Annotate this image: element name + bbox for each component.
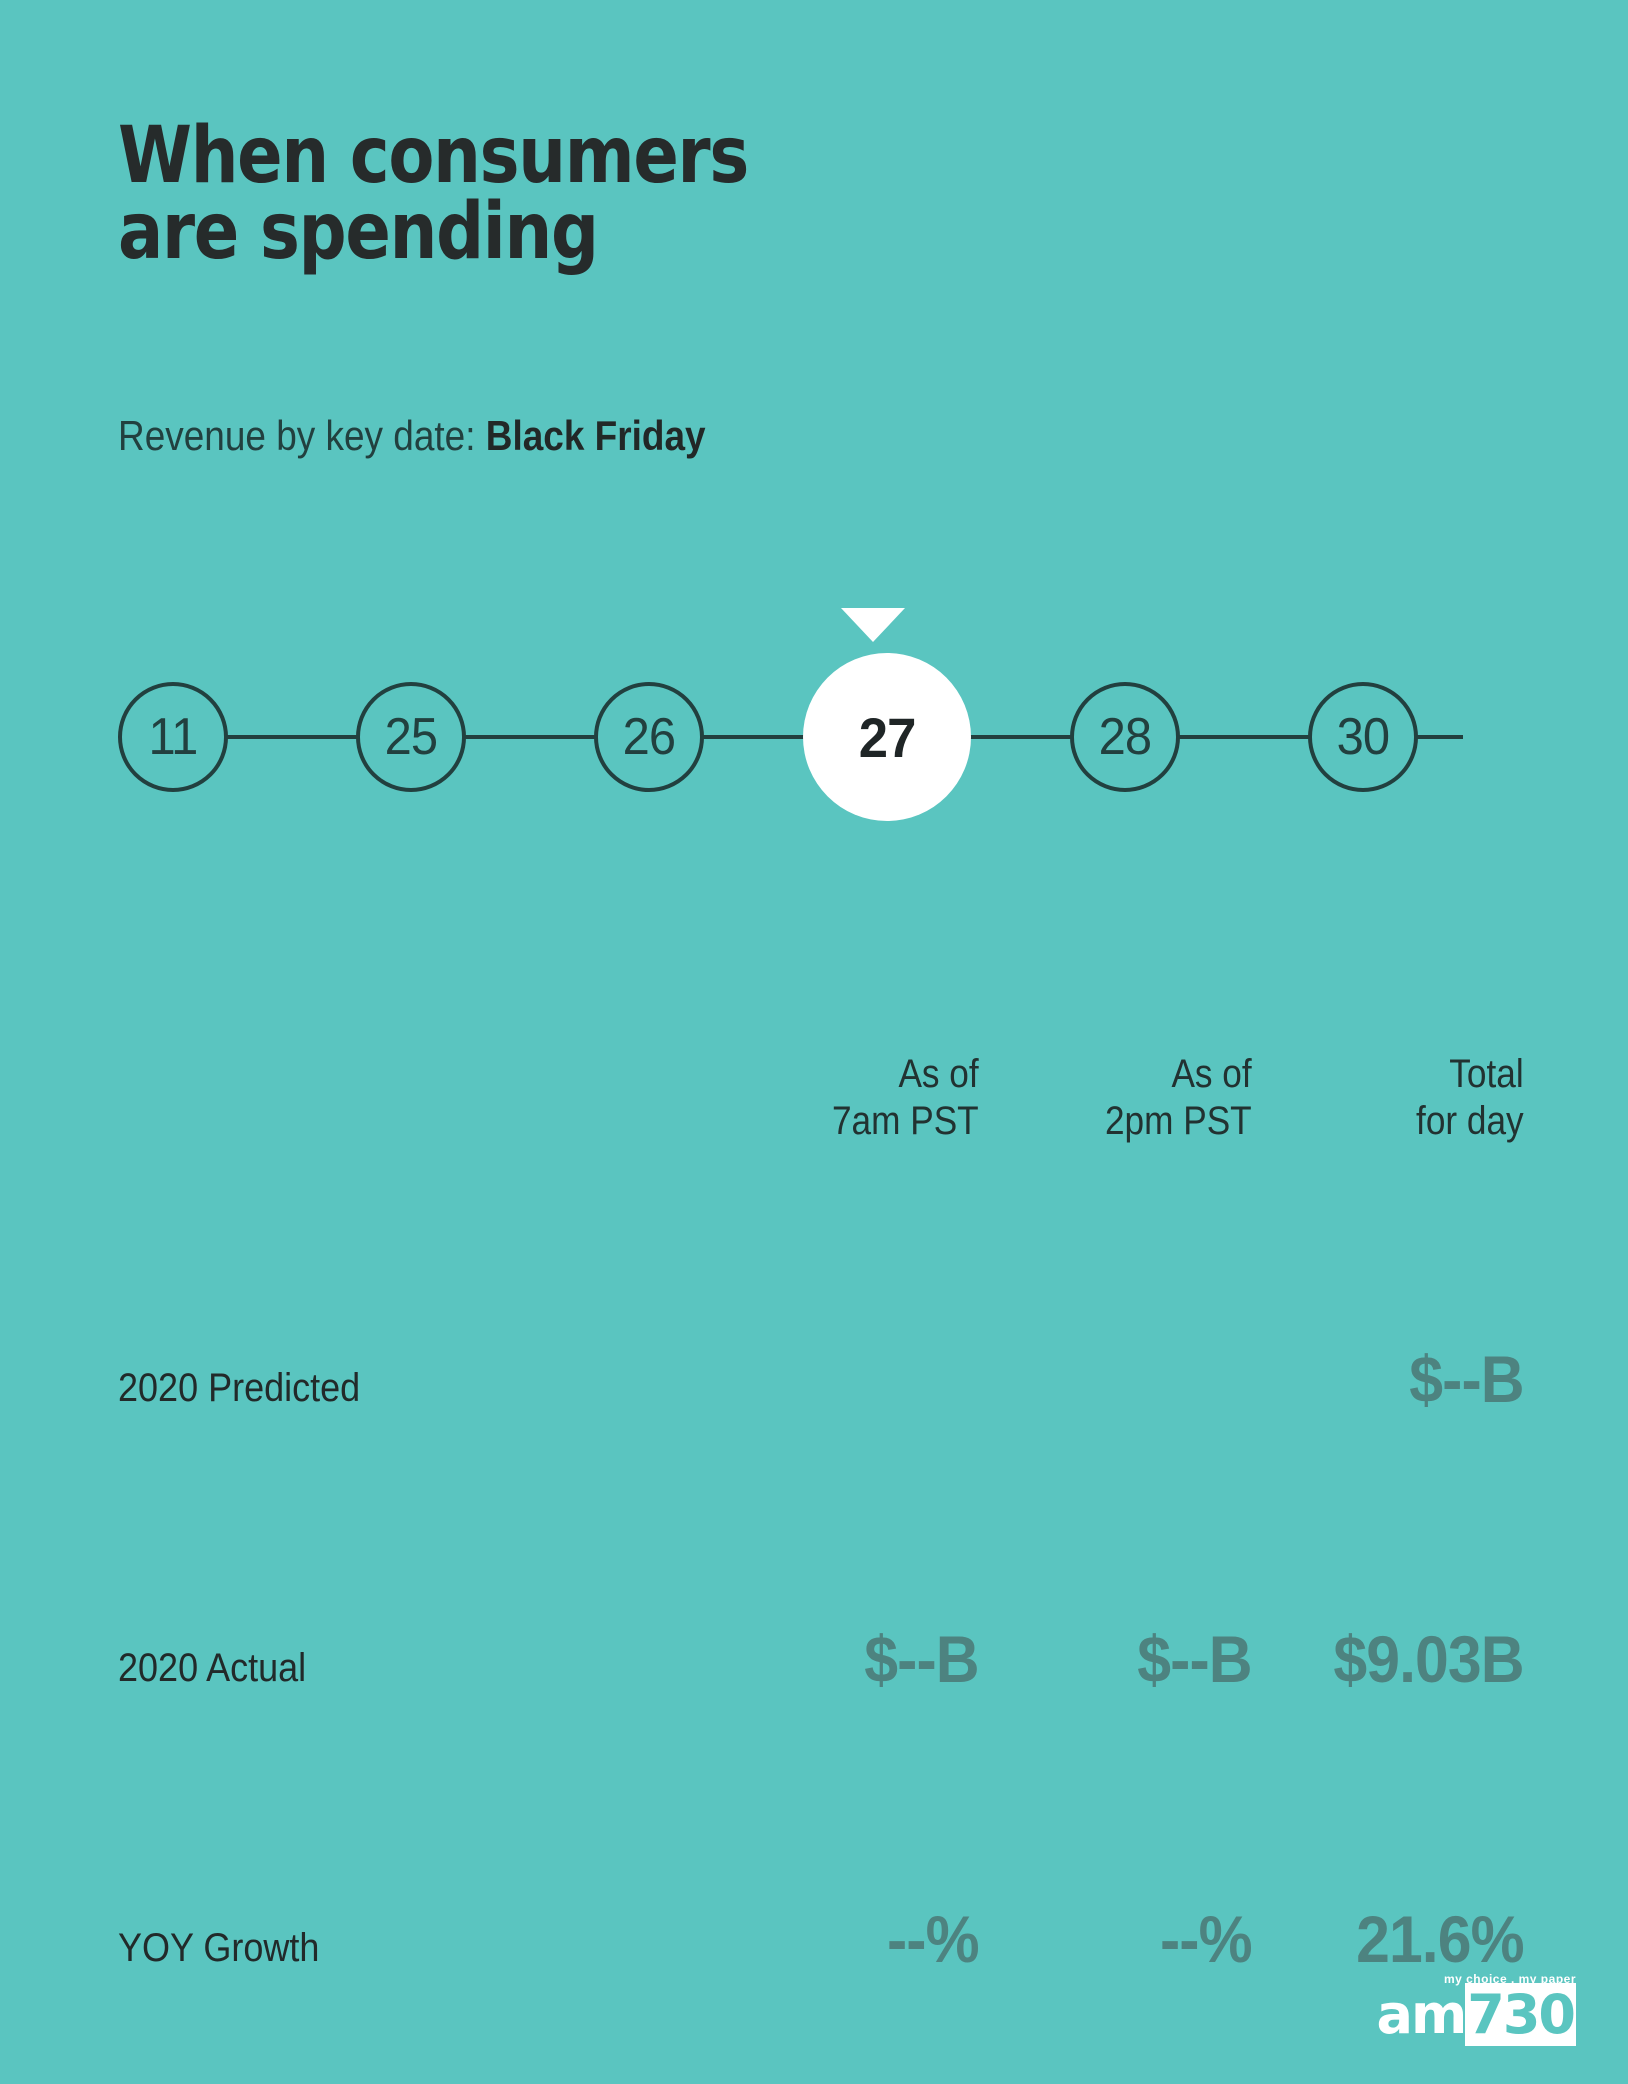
- table-header-row: As of 7am PST As of 2pm PST Total for da…: [118, 960, 1524, 1145]
- subtitle: Revenue by key date: Black Friday: [118, 412, 706, 460]
- logo-wordmark: am730: [1377, 1988, 1576, 2042]
- column-header-7am: As of 7am PST: [739, 1051, 979, 1145]
- logo-prefix: am: [1377, 1983, 1466, 2046]
- value-predicted-total: $--B: [1273, 1341, 1524, 1425]
- timeline-node-label: 27: [859, 705, 916, 770]
- value-yoy-2pm: --%: [1000, 1901, 1251, 1985]
- column-header-total: Total for day: [1284, 1051, 1524, 1145]
- logo-number: 730: [1465, 1983, 1576, 2046]
- timeline-node-label: 28: [1099, 707, 1151, 767]
- timeline-node-30[interactable]: 30: [1308, 682, 1418, 792]
- row-label-actual: 2020 Actual: [118, 1646, 647, 1705]
- timeline-node-label: 30: [1337, 707, 1389, 767]
- timeline-node-11[interactable]: 11: [118, 682, 228, 792]
- value-actual-2pm: $--B: [1000, 1621, 1251, 1705]
- subtitle-value: Black Friday: [486, 412, 706, 459]
- timeline-node-25[interactable]: 25: [356, 682, 466, 792]
- revenue-table: As of 7am PST As of 2pm PST Total for da…: [118, 960, 1524, 1985]
- value-predicted-2pm: [1000, 1417, 1251, 1425]
- timeline-node-label: 25: [385, 707, 437, 767]
- timeline-node-27-active[interactable]: 27: [803, 653, 971, 821]
- subtitle-label: Revenue by key date:: [118, 412, 476, 459]
- timeline-node-label: 11: [149, 707, 198, 767]
- table-row-actual: 2020 Actual $--B $--B $9.03B: [118, 1425, 1524, 1705]
- timeline-node-26[interactable]: 26: [594, 682, 704, 792]
- column-header-2pm: As of 2pm PST: [1011, 1051, 1251, 1145]
- page-title: When consumers are spending: [118, 118, 978, 271]
- table-corner-cell: [118, 1131, 647, 1145]
- table-row-predicted: 2020 Predicted $--B: [118, 1145, 1524, 1425]
- date-timeline: 11 25 26 27 28 30: [118, 590, 1518, 840]
- value-predicted-7am: [728, 1417, 979, 1425]
- value-actual-total: $9.03B: [1273, 1621, 1524, 1705]
- active-date-pointer-icon: [841, 608, 905, 642]
- title-block: When consumers are spending: [118, 118, 1118, 271]
- infographic-page: When consumers are spending Revenue by k…: [0, 0, 1628, 2084]
- row-label-predicted: 2020 Predicted: [118, 1366, 647, 1425]
- table-row-yoy: YOY Growth --% --% 21.6%: [118, 1705, 1524, 1985]
- row-label-yoy: YOY Growth: [118, 1926, 647, 1985]
- am730-logo: my choice . my paper am730: [1377, 1973, 1576, 2042]
- value-yoy-7am: --%: [728, 1901, 979, 1985]
- value-actual-7am: $--B: [728, 1621, 979, 1705]
- timeline-node-label: 26: [623, 707, 675, 767]
- timeline-node-28[interactable]: 28: [1070, 682, 1180, 792]
